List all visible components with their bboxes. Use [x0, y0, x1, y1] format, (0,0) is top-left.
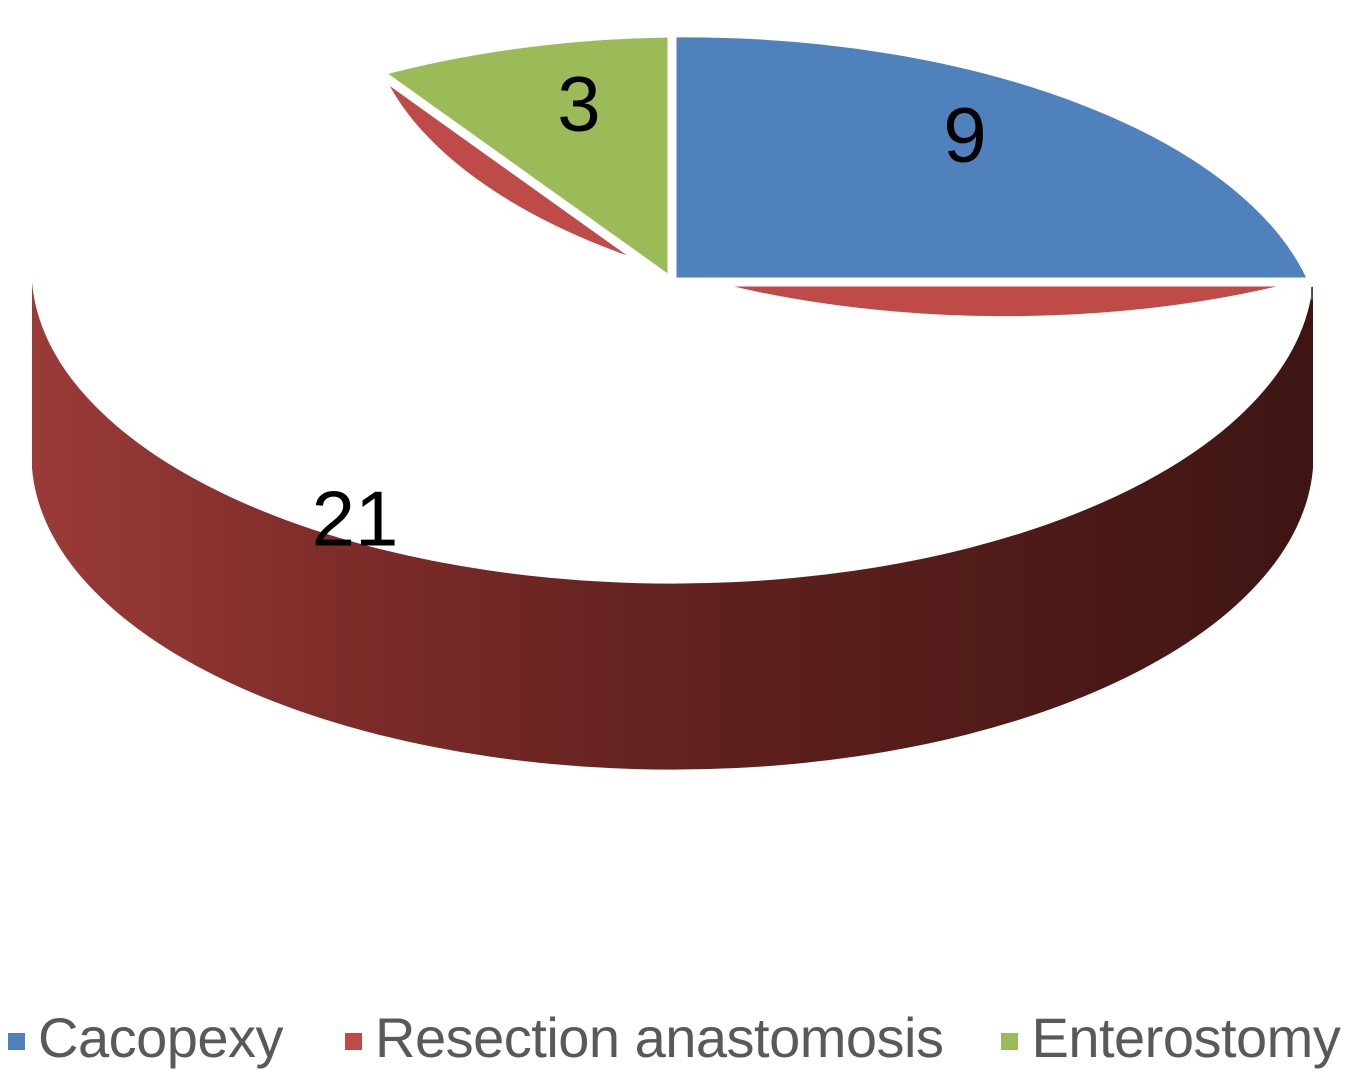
legend-item-resection-anastomosis[interactable]: Resection anastomosis — [345, 998, 943, 1078]
pie-svg: 9 21 3 — [0, 0, 1368, 960]
chart-legend: Cacopexy Resection anastomosis Enterosto… — [0, 998, 1368, 1078]
legend-item-enterostomy[interactable]: Enterostomy — [1001, 998, 1340, 1078]
pie-plot-area: 9 21 3 — [0, 0, 1368, 960]
data-label-cacopexy: 9 — [943, 91, 986, 179]
legend-label-cacopexy: Cacopexy — [38, 1010, 283, 1066]
slice-side-resection-anastomosis — [32, 282, 1313, 770]
legend-item-cacopexy[interactable]: Cacopexy — [8, 998, 283, 1078]
legend-swatch-icon-enterostomy — [1001, 1033, 1018, 1050]
pie-top-surface — [378, 33, 1313, 321]
data-label-enterostomy: 3 — [557, 60, 600, 148]
data-label-resection-anastomosis: 21 — [312, 475, 399, 563]
legend-swatch-icon-cacopexy — [8, 1033, 25, 1050]
legend-label-enterostomy: Enterostomy — [1031, 1010, 1340, 1066]
slice-enterostomy — [378, 33, 672, 282]
pie-chart-figure: 9 21 3 Cacopexy Resection anastomosis En… — [0, 0, 1368, 1078]
slice-cacopexy — [672, 33, 1313, 282]
pie-3d-depth — [32, 276, 1313, 770]
legend-label-resection-anastomosis: Resection anastomosis — [375, 1010, 943, 1066]
legend-swatch-icon-resection-anastomosis — [345, 1033, 362, 1050]
